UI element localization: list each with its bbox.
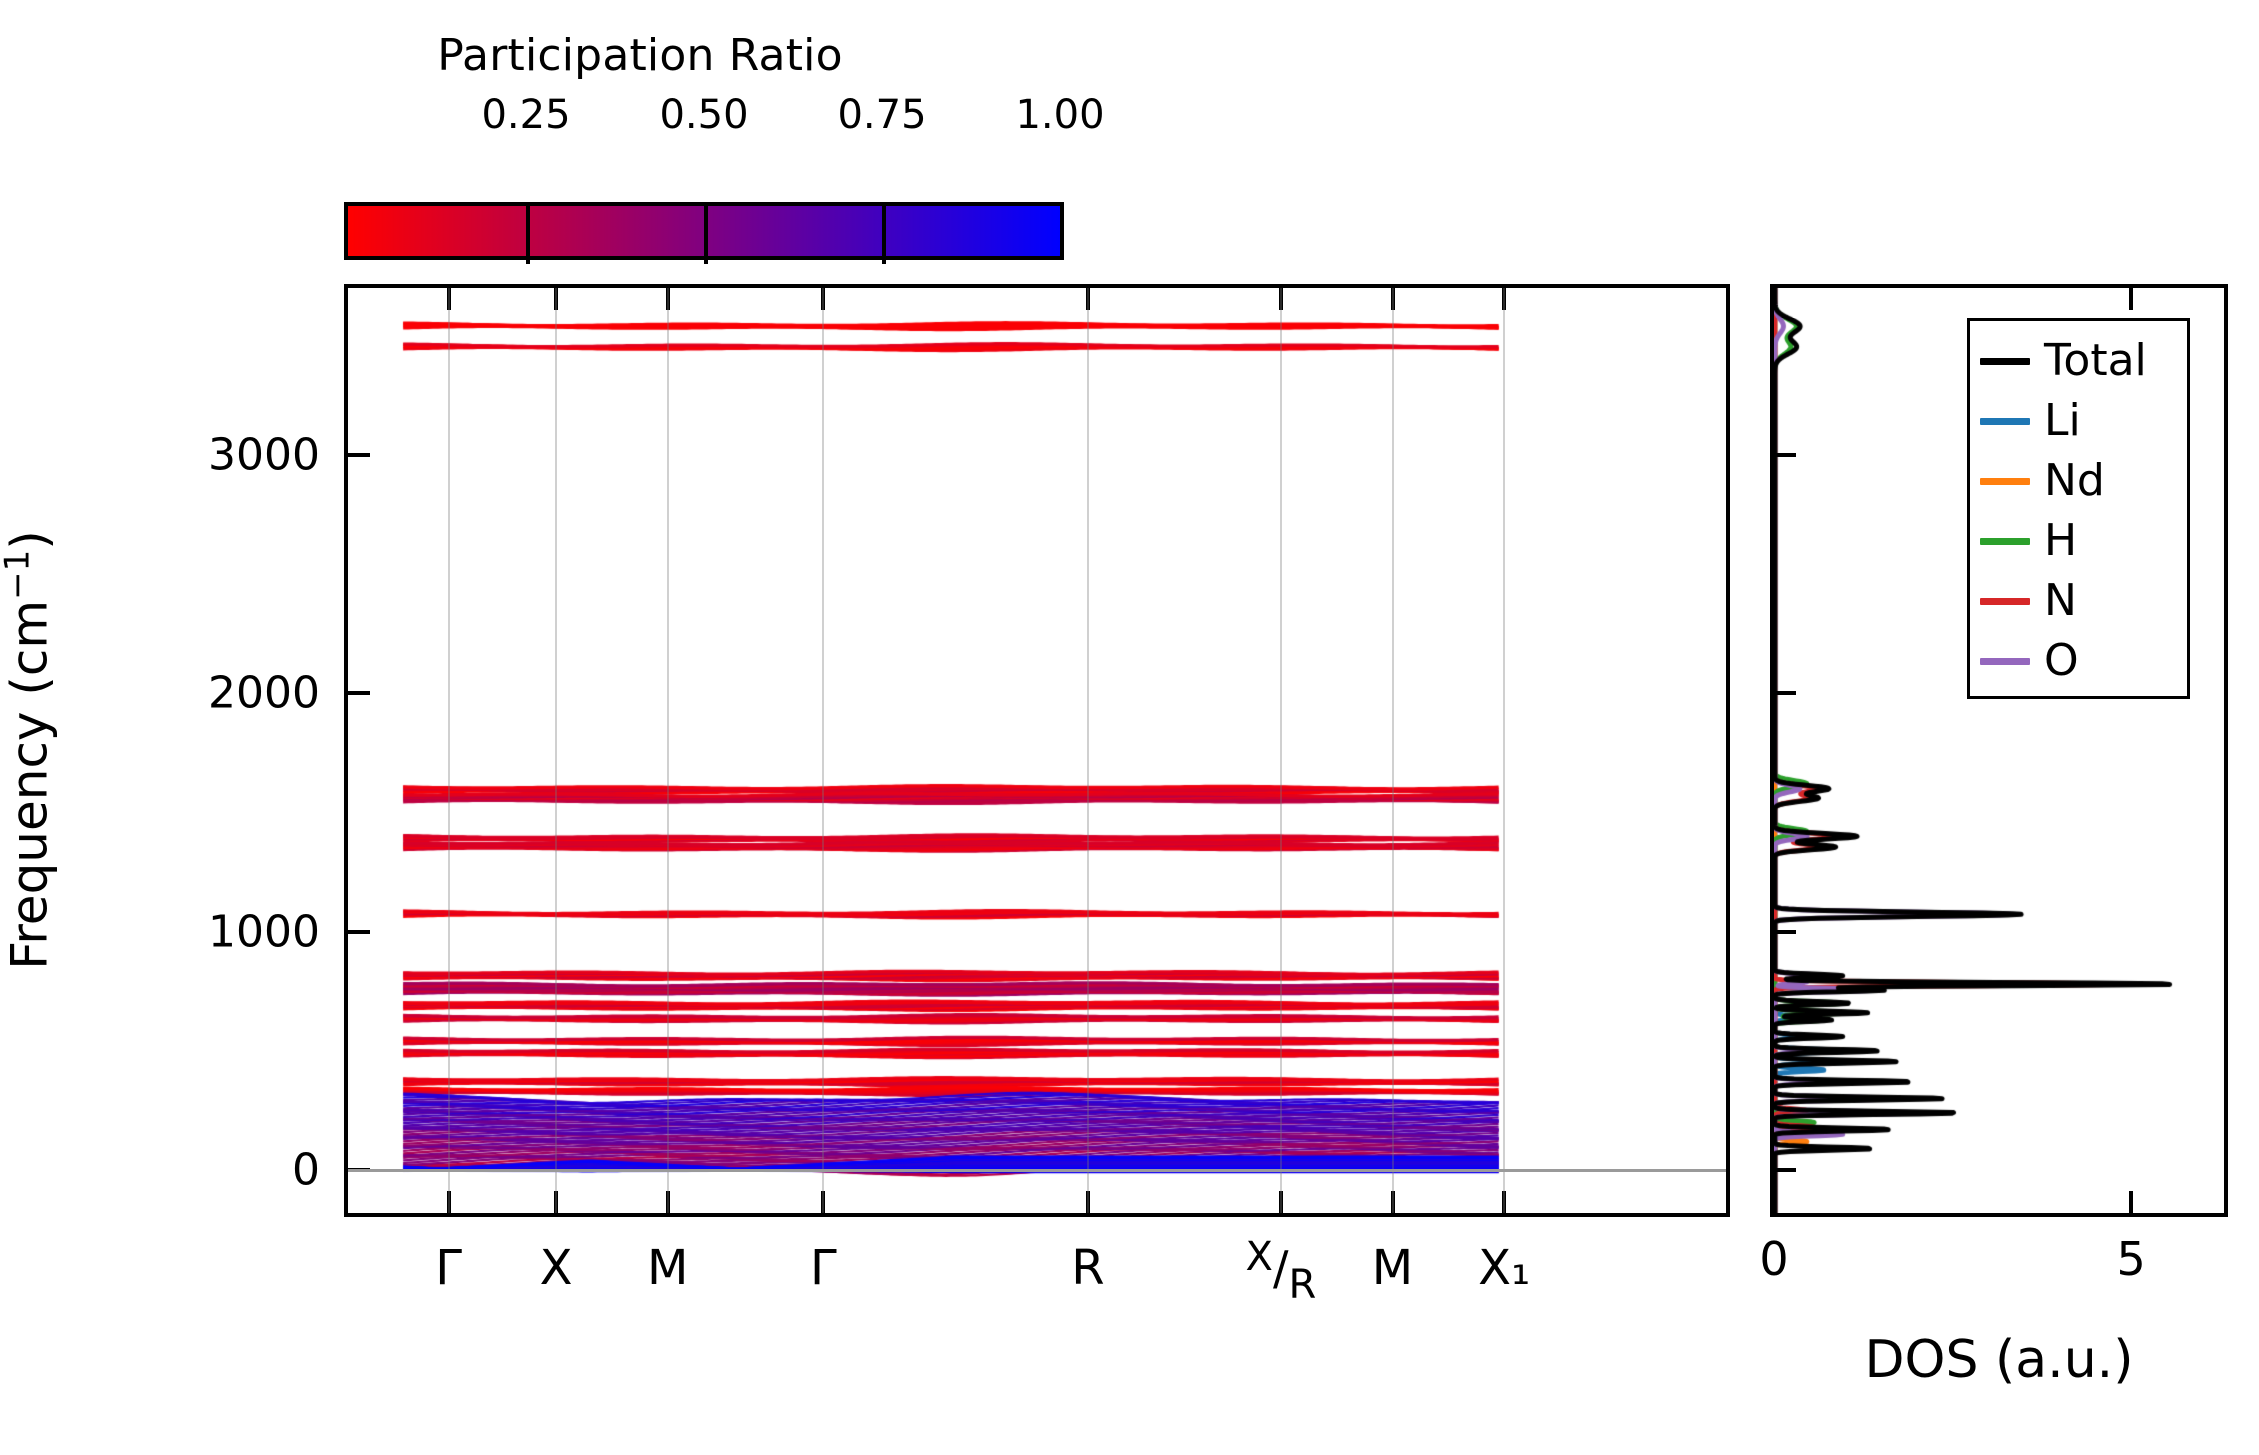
y-axis-tick-label: 1000	[208, 906, 320, 957]
legend-item-total: Total	[1970, 331, 2187, 391]
y-axis-label-paren: )	[0, 530, 58, 550]
y-axis-tick-label: 3000	[208, 429, 320, 480]
dos-x-axis-tick	[1772, 1191, 1776, 1213]
dos-x-axis-tick	[2129, 1191, 2133, 1213]
legend-label: H	[2044, 519, 2077, 563]
dos-x-axis-tick	[1772, 288, 1776, 310]
y-axis-tick	[348, 930, 370, 934]
dos-x-axis-tick	[2129, 288, 2133, 310]
high-symmetry-line	[1087, 288, 1089, 1213]
dos-legend: TotalLiNdHNO	[1967, 318, 2190, 699]
colorbar-tick-label: 0.50	[659, 92, 748, 138]
y-axis-label: Frequency (cm−1)	[0, 530, 58, 970]
dos-y-axis-tick	[1774, 930, 1796, 934]
dos-axis-label: DOS (a.u.)	[1865, 1330, 2134, 1390]
high-symmetry-line	[822, 288, 824, 1213]
legend-label: Li	[2044, 399, 2081, 443]
y-axis-tick-labels: 0100020003000	[120, 0, 320, 1455]
colorbar-tick-label: 0.75	[837, 92, 926, 138]
colorbar-tick-label: 0.25	[481, 92, 570, 138]
x-axis-tick-label: R	[1071, 1240, 1104, 1296]
high-symmetry-line	[1280, 288, 1282, 1213]
phonon-bandstructure-dos-figure: Participation Ratio 0.250.500.751.00 Fre…	[0, 0, 2259, 1455]
legend-label: Nd	[2044, 459, 2105, 503]
legend-label: Total	[2044, 339, 2147, 383]
x-axis-tick-label: X₁	[1478, 1240, 1530, 1296]
y-axis-tick	[348, 453, 370, 457]
dos-y-axis-tick	[1774, 1168, 1796, 1172]
legend-item-h: H	[1970, 511, 2187, 571]
high-symmetry-line	[448, 288, 450, 1213]
x-axis-tick-label: M	[647, 1240, 688, 1296]
legend-item-n: N	[1970, 571, 2187, 631]
colorbar-tick	[704, 206, 708, 264]
dos-x-tick-labels: 05	[1770, 1232, 2240, 1302]
x-axis-tick-label: X/R	[1246, 1240, 1317, 1296]
y-axis-tick-label: 0	[292, 1145, 320, 1196]
legend-swatch-o	[1980, 658, 2030, 665]
legend-swatch-n	[1980, 598, 2030, 605]
colorbar-title: Participation Ratio	[300, 30, 980, 81]
y-axis-tick-label: 2000	[208, 668, 320, 719]
y-axis-label-text: Frequency (cm	[0, 600, 58, 970]
high-symmetry-line	[1503, 288, 1505, 1213]
dos-x-axis-tick-label: 0	[1759, 1232, 1788, 1286]
y-axis-tick	[348, 691, 370, 695]
legend-swatch-h	[1980, 538, 2030, 545]
legend-label: O	[2044, 639, 2079, 683]
high-symmetry-line	[555, 288, 557, 1213]
colorbar-tick-labels: 0.250.500.751.00	[300, 92, 1100, 142]
legend-label: N	[2044, 579, 2077, 623]
colorbar-tick-label: 1.00	[1015, 92, 1104, 138]
dos-y-axis-tick	[1774, 453, 1796, 457]
legend-swatch-nd	[1980, 478, 2030, 485]
colorbar-tick	[526, 206, 530, 264]
x-axis-tick-label: Γ	[810, 1240, 837, 1296]
legend-item-o: O	[1970, 631, 2187, 691]
high-symmetry-line	[667, 288, 669, 1213]
legend-swatch-li	[1980, 418, 2030, 425]
dos-y-axis-tick	[1774, 691, 1796, 695]
high-symmetry-line	[1392, 288, 1394, 1213]
x-axis-tick-label: M	[1372, 1240, 1413, 1296]
participation-ratio-colorbar	[344, 202, 1064, 260]
zero-frequency-line	[348, 1169, 1726, 1172]
band-structure-axes[interactable]	[344, 284, 1730, 1217]
colorbar-tick	[882, 206, 886, 264]
band-plot-area	[348, 288, 1726, 1213]
x-axis-tick-label: X	[540, 1240, 573, 1296]
dos-x-axis-tick-label: 5	[2117, 1232, 2146, 1286]
y-axis-label-exponent: −1	[0, 550, 38, 600]
legend-item-nd: Nd	[1970, 451, 2187, 511]
legend-item-li: Li	[1970, 391, 2187, 451]
x-axis-tick-label: Γ	[435, 1240, 462, 1296]
legend-swatch-total	[1980, 358, 2030, 365]
